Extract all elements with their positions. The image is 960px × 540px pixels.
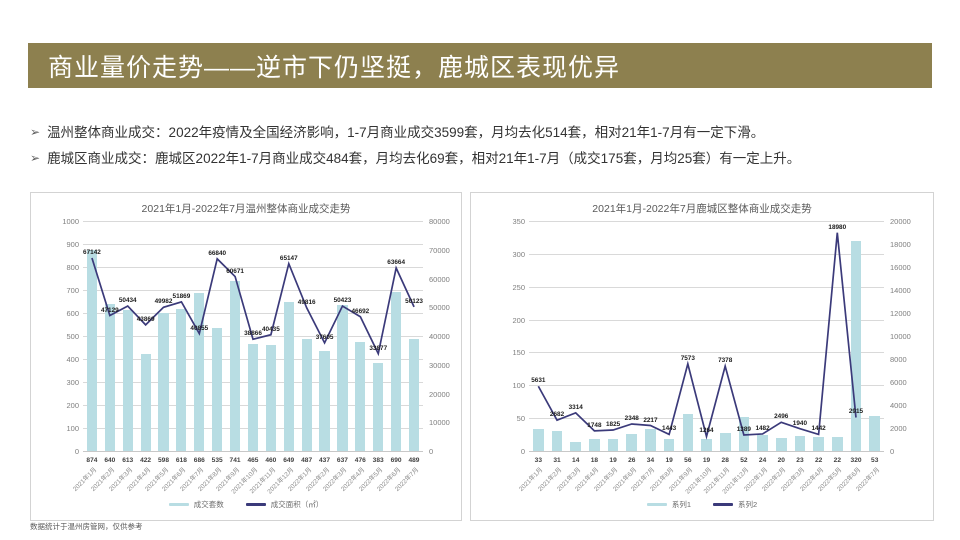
x-tick: 2021年6月 — [172, 465, 190, 475]
bar-item[interactable]: 476 — [351, 221, 369, 451]
line-point-label: 50434 — [119, 297, 137, 304]
y2-axis-tick-label: 80000 — [429, 217, 450, 226]
x-tick: 2021年1月 — [83, 465, 101, 475]
x-tick: 2021年7月 — [190, 465, 208, 475]
bar-value-label: 22 — [834, 457, 841, 464]
bar-value-label: 465 — [247, 457, 258, 464]
bar — [832, 437, 843, 451]
bar — [533, 429, 544, 451]
bar-item[interactable]: 487 — [298, 221, 316, 451]
y-axis-tick-label: 50 — [483, 414, 525, 423]
bar — [391, 292, 401, 451]
bar-item[interactable]: 460 — [262, 221, 280, 451]
bar — [141, 354, 151, 451]
line-point-label: 7378 — [718, 357, 732, 364]
y-axis-tick-label: 150 — [483, 348, 525, 357]
bar-series: 333114181926341956192852242023222232053 — [529, 221, 884, 451]
line-point-label: 2915 — [849, 408, 863, 415]
x-tick: 2021年4月 — [585, 465, 604, 475]
chart-title-wenzhou: 2021年1月-2022年7月温州整体商业成交走势 — [31, 201, 461, 216]
x-tick: 2021年3月 — [566, 465, 585, 475]
bar — [608, 439, 619, 451]
bar-item[interactable]: 422 — [137, 221, 155, 451]
bar — [319, 351, 329, 452]
bar — [230, 281, 240, 451]
x-tick: 2022年7月 — [405, 465, 423, 475]
bar-value-label: 598 — [158, 457, 169, 464]
y2-axis-tick-label: 40000 — [429, 332, 450, 341]
bar-value-label: 618 — [176, 457, 187, 464]
y2-axis-tick-label: 0 — [429, 447, 433, 456]
x-tick: 2022年2月 — [772, 465, 791, 475]
bar-value-label: 686 — [194, 457, 205, 464]
y-axis-tick-label: 0 — [483, 447, 525, 456]
bar — [409, 339, 419, 451]
footnote: 数据统计于温州房管网，仅供参考 — [30, 521, 143, 532]
bar-value-label: 31 — [553, 457, 560, 464]
x-tick: 2022年7月 — [865, 465, 884, 475]
x-tick: 2021年9月 — [226, 465, 244, 475]
legend-swatch-icon — [713, 503, 733, 506]
bar-item[interactable]: 22 — [809, 221, 828, 451]
x-tick: 2021年10月 — [697, 465, 716, 475]
bar-value-label: 20 — [778, 457, 785, 464]
bar-item[interactable]: 24 — [753, 221, 772, 451]
bullet-marker-icon: ➢ — [30, 124, 40, 141]
line-point-label: 43869 — [137, 316, 155, 323]
bar — [720, 433, 731, 451]
legend-item-bars: 成交套数 — [169, 499, 224, 510]
y2-axis-tick-label: 70000 — [429, 246, 450, 255]
y-axis-tick-label: 900 — [37, 240, 79, 249]
bar — [645, 429, 656, 451]
y-axis-tick-label: 700 — [37, 286, 79, 295]
bar — [284, 302, 294, 451]
y-axis-tick-label: 600 — [37, 309, 79, 318]
bar-item[interactable]: 686 — [190, 221, 208, 451]
line-point-label: 47129 — [101, 307, 119, 314]
bar-value-label: 52 — [740, 457, 747, 464]
bar — [158, 313, 168, 451]
bar-item[interactable]: 637 — [333, 221, 351, 451]
bar-item[interactable]: 56 — [679, 221, 698, 451]
x-tick: 2022年4月 — [809, 465, 828, 475]
chart-plot-area-lucheng: 3331141819263419561928522420232222320535… — [529, 221, 884, 451]
bar-value-label: 476 — [355, 457, 366, 464]
line-point-label: 1443 — [662, 425, 676, 432]
line-point-label: 66840 — [208, 250, 226, 257]
line-point-label: 18980 — [828, 224, 846, 231]
line-point-label: 1482 — [755, 425, 769, 432]
line-point-label: 33877 — [369, 345, 387, 352]
line-point-label: 1389 — [737, 426, 751, 433]
bullet-text-0: 温州整体商业成交：2022年疫情及全国经济影响，1-7月商业成交3599套，月均… — [47, 124, 764, 141]
bar-item[interactable]: 53 — [865, 221, 884, 451]
x-tick: 2021年5月 — [155, 465, 173, 475]
bar-value-label: 487 — [301, 457, 312, 464]
bar-item[interactable]: 14 — [566, 221, 585, 451]
bar-value-label: 320 — [851, 457, 862, 464]
bar — [813, 437, 824, 451]
x-tick: 2022年2月 — [316, 465, 334, 475]
line-point-label: 5631 — [531, 377, 545, 384]
x-tick: 2022年1月 — [753, 465, 772, 475]
bar — [337, 305, 347, 452]
x-tick: 2021年1月 — [529, 465, 548, 475]
slide-root: 商业量价走势——逆市下仍坚挺，鹿城区表现优异 ➢ 温州整体商业成交：2022年疫… — [0, 0, 960, 540]
line-point-label: 63664 — [387, 259, 405, 266]
bar-value-label: 18 — [591, 457, 598, 464]
bar-item[interactable]: 618 — [172, 221, 190, 451]
bar-value-label: 34 — [647, 457, 654, 464]
x-axis-line-lucheng — [529, 451, 884, 452]
chart-panel-wenzhou: 2021年1月-2022年7月温州整体商业成交走势 87464061342259… — [30, 192, 462, 521]
line-point-label: 1748 — [587, 422, 601, 429]
line-point-label: 2496 — [774, 413, 788, 420]
legend-label-1: 成交面积（㎡） — [271, 499, 324, 510]
x-tick: 2021年5月 — [604, 465, 623, 475]
bar — [701, 439, 712, 451]
y2-axis-tick-label: 20000 — [429, 390, 450, 399]
line-point-label: 2348 — [625, 415, 639, 422]
y-axis-tick-label: 500 — [37, 332, 79, 341]
line-point-label: 1940 — [793, 420, 807, 427]
bar-value-label: 19 — [703, 457, 710, 464]
line-point-label: 7573 — [681, 355, 695, 362]
y-axis-tick-label: 800 — [37, 263, 79, 272]
y2-axis-tick-label: 10000 — [890, 332, 911, 341]
x-tick: 2022年6月 — [847, 465, 866, 475]
bar — [683, 414, 694, 451]
bar-value-label: 649 — [283, 457, 294, 464]
bullet-text-1: 鹿城区商业成交：鹿城区2022年1-7月商业成交484套，月均去化69套，相对2… — [47, 150, 800, 167]
bar — [664, 439, 675, 451]
x-tick: 2022年5月 — [828, 465, 847, 475]
bar — [212, 328, 222, 451]
legend-label-0: 系列1 — [672, 499, 691, 510]
legend-item-line: 系列2 — [713, 499, 757, 510]
bar — [266, 345, 276, 451]
bar-item[interactable]: 22 — [828, 221, 847, 451]
line-point-label: 50423 — [334, 297, 352, 304]
line-point-label: 40855 — [190, 325, 208, 332]
y2-axis-tick-label: 60000 — [429, 275, 450, 284]
bar-value-label: 14 — [572, 457, 579, 464]
bar-value-label: 535 — [212, 457, 223, 464]
bar-value-label: 460 — [265, 457, 276, 464]
x-tick: 2021年8月 — [208, 465, 226, 475]
x-tick: 2022年3月 — [791, 465, 810, 475]
bar-value-label: 690 — [391, 457, 402, 464]
y-axis-tick-label: 100 — [37, 424, 79, 433]
x-tick: 2022年1月 — [298, 465, 316, 475]
y2-axis-tick-label: 6000 — [890, 378, 907, 387]
bar — [739, 417, 750, 451]
bar — [87, 250, 97, 451]
line-point-label: 46692 — [351, 308, 369, 315]
y-axis-tick-label: 350 — [483, 217, 525, 226]
y2-axis-tick-label: 16000 — [890, 263, 911, 272]
legend-swatch-icon — [169, 503, 189, 506]
x-tick: 2021年12月 — [280, 465, 298, 475]
bar-item[interactable]: 489 — [405, 221, 423, 451]
x-tick: 2021年12月 — [735, 465, 754, 475]
bar — [105, 304, 115, 451]
bar-item[interactable]: 383 — [369, 221, 387, 451]
bar-item[interactable]: 320 — [847, 221, 866, 451]
x-tick: 2022年3月 — [333, 465, 351, 475]
bar-value-label: 637 — [337, 457, 348, 464]
bullet-marker-icon: ➢ — [30, 150, 40, 167]
bar — [552, 431, 563, 451]
bar-item[interactable]: 52 — [735, 221, 754, 451]
x-tick: 2021年11月 — [262, 465, 280, 475]
bar — [176, 309, 186, 451]
bar-item[interactable]: 613 — [119, 221, 137, 451]
legend-swatch-icon — [647, 503, 667, 506]
line-point-label: 37605 — [316, 334, 334, 341]
bullet-list: ➢ 温州整体商业成交：2022年疫情及全国经济影响，1-7月商业成交3599套，… — [30, 124, 942, 176]
y-axis-tick-label: 250 — [483, 283, 525, 292]
chart-title-lucheng: 2021年1月-2022年7月鹿城区整体商业成交走势 — [471, 201, 933, 216]
bar-value-label: 19 — [665, 457, 672, 464]
bar — [851, 241, 862, 451]
bar-item[interactable]: 690 — [387, 221, 405, 451]
bar — [373, 363, 383, 451]
x-tick: 2021年8月 — [660, 465, 679, 475]
x-tick: 2021年9月 — [679, 465, 698, 475]
x-tick: 2021年4月 — [137, 465, 155, 475]
bar-item[interactable]: 23 — [791, 221, 810, 451]
y-axis-tick-label: 200 — [483, 316, 525, 325]
x-tick: 2021年2月 — [548, 465, 567, 475]
bar-value-label: 741 — [230, 457, 241, 464]
bar-value-label: 33 — [535, 457, 542, 464]
line-point-label: 40435 — [262, 326, 280, 333]
y-axis-tick-label: 200 — [37, 401, 79, 410]
bar-value-label: 22 — [815, 457, 822, 464]
bar-item[interactable]: 19 — [697, 221, 716, 451]
x-tick: 2021年10月 — [244, 465, 262, 475]
bar-value-label: 28 — [722, 457, 729, 464]
bar — [194, 293, 204, 451]
bar — [757, 435, 768, 451]
bar-value-label: 640 — [104, 457, 115, 464]
line-point-label: 49816 — [298, 299, 316, 306]
line-point-label: 38866 — [244, 330, 262, 337]
line-point-label: 1264 — [699, 427, 713, 434]
chart-plot-area-wenzhou: 8746406134225986186865357414654606494874… — [83, 221, 423, 451]
y-axis-tick-label: 300 — [37, 378, 79, 387]
bar-item[interactable]: 640 — [101, 221, 119, 451]
bar — [355, 342, 365, 451]
bar-value-label: 23 — [796, 457, 803, 464]
bar-value-label: 56 — [684, 457, 691, 464]
bar-item[interactable]: 28 — [716, 221, 735, 451]
line-point-label: 1442 — [811, 425, 825, 432]
x-tick: 2021年6月 — [622, 465, 641, 475]
line-point-label: 65147 — [280, 255, 298, 262]
bullet-item-0: ➢ 温州整体商业成交：2022年疫情及全国经济影响，1-7月商业成交3599套，… — [30, 124, 942, 141]
y2-axis-tick-label: 8000 — [890, 355, 907, 364]
x-axis-ticks-lucheng: 2021年1月2021年2月2021年3月2021年4月2021年5月2021年… — [529, 465, 884, 475]
y2-axis-tick-label: 18000 — [890, 240, 911, 249]
line-point-label: 1825 — [606, 421, 620, 428]
x-axis-line-wenzhou — [83, 451, 423, 452]
bar — [570, 442, 581, 451]
bar-value-label: 19 — [609, 457, 616, 464]
bar — [589, 439, 600, 451]
y2-axis-tick-label: 0 — [890, 447, 894, 456]
x-tick: 2021年11月 — [716, 465, 735, 475]
y2-axis-tick-label: 10000 — [429, 418, 450, 427]
bar — [626, 434, 637, 451]
bar-item[interactable]: 19 — [660, 221, 679, 451]
y2-axis-tick-label: 12000 — [890, 309, 911, 318]
slide-title-bar: 商业量价走势——逆市下仍坚挺，鹿城区表现优异 — [28, 43, 932, 88]
line-point-label: 3314 — [569, 404, 583, 411]
legend-label-1: 系列2 — [738, 499, 757, 510]
y2-axis-tick-label: 30000 — [429, 361, 450, 370]
bar-value-label: 422 — [140, 457, 151, 464]
line-point-label: 50123 — [405, 298, 423, 305]
y-axis-tick-label: 100 — [483, 381, 525, 390]
legend-item-line: 成交面积（㎡） — [246, 499, 324, 510]
chart-legend-wenzhou: 成交套数 成交面积（㎡） — [31, 499, 461, 510]
line-point-label: 2682 — [550, 411, 564, 418]
bar-item[interactable]: 18 — [585, 221, 604, 451]
y2-axis-tick-label: 20000 — [890, 217, 911, 226]
bar-item[interactable]: 741 — [226, 221, 244, 451]
x-tick: 2021年2月 — [101, 465, 119, 475]
y-axis-tick-label: 300 — [483, 250, 525, 259]
x-tick: 2022年4月 — [351, 465, 369, 475]
bar-value-label: 613 — [122, 457, 133, 464]
y-axis-tick-label: 1000 — [37, 217, 79, 226]
x-axis-ticks-wenzhou: 2021年1月2021年2月2021年3月2021年4月2021年5月2021年… — [83, 465, 423, 475]
legend-swatch-icon — [246, 503, 266, 506]
line-point-label: 51869 — [173, 293, 191, 300]
line-point-label: 49982 — [155, 298, 173, 305]
bar-value-label: 383 — [373, 457, 384, 464]
bar — [795, 436, 806, 451]
x-tick: 2022年6月 — [387, 465, 405, 475]
legend-label-0: 成交套数 — [194, 499, 224, 510]
page-title: 商业量价走势——逆市下仍坚挺，鹿城区表现优异 — [28, 48, 620, 84]
bar-value-label: 24 — [759, 457, 766, 464]
bar-value-label: 53 — [871, 457, 878, 464]
chart-legend-lucheng: 系列1 系列2 — [471, 499, 933, 510]
chart-panel-lucheng: 2021年1月-2022年7月鹿城区整体商业成交走势 3331141819263… — [470, 192, 934, 521]
x-tick: 2021年7月 — [641, 465, 660, 475]
bar — [776, 438, 787, 451]
line-point-label: 2217 — [643, 417, 657, 424]
bar-value-label: 489 — [408, 457, 419, 464]
bar-value-label: 26 — [628, 457, 635, 464]
bar — [869, 416, 880, 451]
bar — [248, 344, 258, 451]
y2-axis-tick-label: 2000 — [890, 424, 907, 433]
y-axis-tick-label: 400 — [37, 355, 79, 364]
bar-item[interactable]: 33 — [529, 221, 548, 451]
x-tick: 2021年3月 — [119, 465, 137, 475]
y2-axis-tick-label: 4000 — [890, 401, 907, 410]
line-point-label: 67142 — [83, 249, 101, 256]
bar-item[interactable]: 19 — [604, 221, 623, 451]
bar — [123, 310, 133, 451]
y-axis-tick-label: 0 — [37, 447, 79, 456]
bar-value-label: 874 — [86, 457, 97, 464]
line-point-label: 60671 — [226, 268, 244, 275]
bar-item[interactable]: 598 — [155, 221, 173, 451]
legend-item-bars: 系列1 — [647, 499, 691, 510]
x-tick: 2022年5月 — [369, 465, 387, 475]
bullet-item-1: ➢ 鹿城区商业成交：鹿城区2022年1-7月商业成交484套，月均去化69套，相… — [30, 150, 942, 167]
bar — [302, 339, 312, 451]
bar-value-label: 437 — [319, 457, 330, 464]
y2-axis-tick-label: 14000 — [890, 286, 911, 295]
y2-axis-tick-label: 50000 — [429, 303, 450, 312]
